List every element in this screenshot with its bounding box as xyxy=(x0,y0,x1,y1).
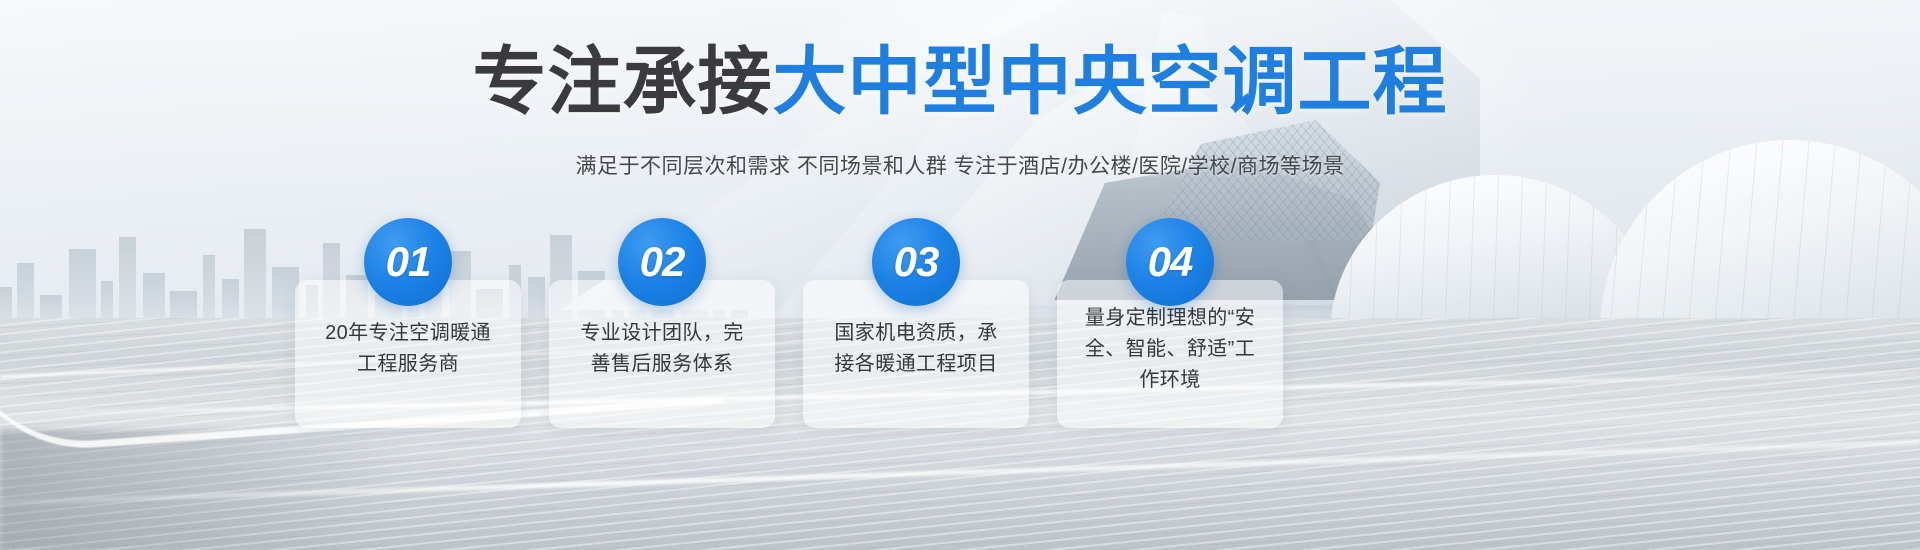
card-number: 03 xyxy=(894,238,939,286)
banner-content: 专注承接大中型中央空调工程 满足于不同层次和需求 不同场景和人群 专注于酒店/办… xyxy=(0,0,1920,550)
card-description: 量身定制理想的“安全、智能、舒适”工作环境 xyxy=(1079,303,1261,396)
feature-card[interactable]: 02 专业设计团队，完善售后服务体系 xyxy=(549,280,775,428)
card-number-badge: 01 xyxy=(364,218,452,306)
feature-card[interactable]: 01 20年专注空调暖通工程服务商 xyxy=(295,280,521,428)
card-description: 20年专注空调暖通工程服务商 xyxy=(317,318,499,380)
hero-banner: 专注承接大中型中央空调工程 满足于不同层次和需求 不同场景和人群 专注于酒店/办… xyxy=(0,0,1920,550)
card-number: 01 xyxy=(386,238,431,286)
card-number: 02 xyxy=(640,238,685,286)
card-number-badge: 03 xyxy=(872,218,960,306)
banner-headline: 专注承接大中型中央空调工程 xyxy=(0,44,1920,119)
card-number-badge: 02 xyxy=(618,218,706,306)
card-number-badge: 04 xyxy=(1126,218,1214,306)
card-description: 国家机电资质，承接各暖通工程项目 xyxy=(825,318,1007,380)
feature-card[interactable]: 04 量身定制理想的“安全、智能、舒适”工作环境 xyxy=(1057,280,1283,428)
card-description: 专业设计团队，完善售后服务体系 xyxy=(571,318,753,380)
banner-subheadline: 满足于不同层次和需求 不同场景和人群 专注于酒店/办公楼/医院/学校/商场等场景 xyxy=(0,150,1920,180)
headline-accent-text: 大中型中央空调工程 xyxy=(773,40,1448,123)
card-number: 04 xyxy=(1148,238,1193,286)
feature-card-list: 01 20年专注空调暖通工程服务商 02 专业设计团队，完善售后服务体系 03 … xyxy=(295,280,1295,428)
feature-card[interactable]: 03 国家机电资质，承接各暖通工程项目 xyxy=(803,280,1029,428)
headline-dark-text: 专注承接 xyxy=(473,40,773,123)
